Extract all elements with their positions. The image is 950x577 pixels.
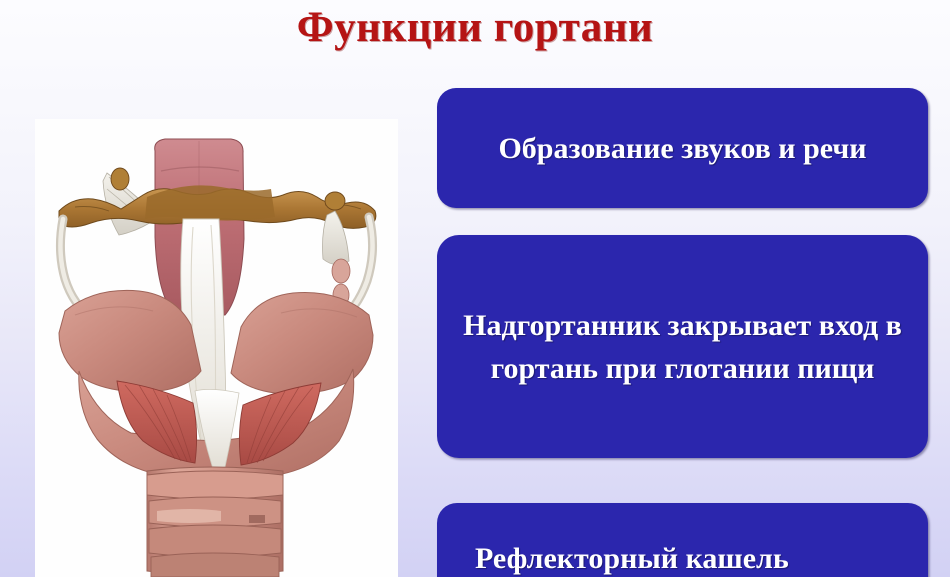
function-box-text: Надгортанник закрывает вход в гортань пр… bbox=[455, 304, 910, 390]
function-box-reflex-cough[interactable]: Рефлекторный кашель bbox=[437, 503, 928, 577]
trachea-rings bbox=[147, 467, 283, 577]
slide-root: Функции гортани bbox=[0, 0, 950, 577]
function-box-epiglottis-closes-larynx[interactable]: Надгортанник закрывает вход в гортань пр… bbox=[437, 235, 928, 458]
function-box-text: Рефлекторный кашель bbox=[455, 537, 910, 577]
larynx-image-panel bbox=[35, 119, 398, 577]
page-title: Функции гортани bbox=[0, 2, 950, 54]
larynx-anatomy-illustration bbox=[35, 119, 398, 577]
function-box-sound-and-speech[interactable]: Образование звуков и речи bbox=[437, 88, 928, 208]
function-box-text: Образование звуков и речи bbox=[455, 127, 910, 170]
